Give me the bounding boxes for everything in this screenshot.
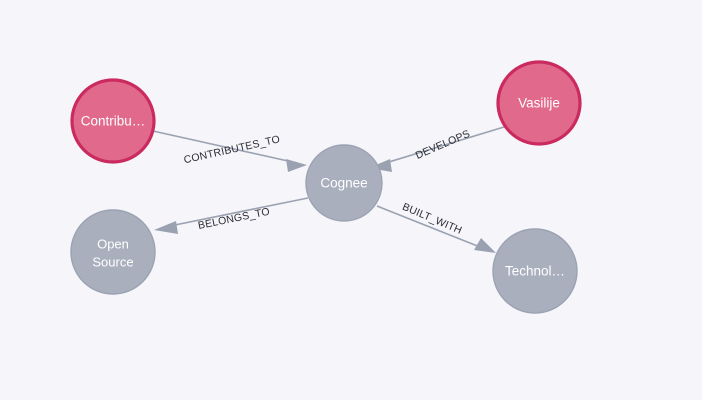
edge-belongs-to[interactable]: BELONGS_TO [154, 198, 308, 234]
node-contributor[interactable]: Contribu… [72, 80, 154, 162]
arrowhead-icon [154, 221, 178, 234]
node-circle[interactable] [72, 80, 154, 162]
node-circle[interactable] [498, 62, 580, 144]
node-circle[interactable] [71, 210, 155, 294]
edge-built-with[interactable]: BUILT_WITH [377, 201, 496, 253]
arrowhead-icon [474, 238, 496, 253]
node-cognee[interactable]: Cognee [306, 145, 382, 221]
edge-line [165, 198, 308, 227]
arrowhead-icon [286, 159, 307, 172]
edge-contributes-to[interactable]: CONTRIBUTES_TO [153, 131, 307, 172]
edge-label-contributes-to: CONTRIBUTES_TO [183, 133, 282, 166]
nodes-layer: Contribu… Vasilije Cognee Open Source [71, 62, 580, 313]
edge-line [153, 131, 297, 163]
node-vasilije[interactable]: Vasilije [498, 62, 580, 144]
node-circle[interactable] [493, 229, 577, 313]
edge-line [377, 206, 485, 249]
edge-line [379, 127, 504, 165]
graph-canvas[interactable]: CONTRIBUTES_TO DEVELOPS BELONGS_TO BUILT… [0, 0, 702, 400]
graph-visualization[interactable]: CONTRIBUTES_TO DEVELOPS BELONGS_TO BUILT… [0, 0, 702, 400]
node-circle[interactable] [306, 145, 382, 221]
node-technology[interactable]: Technol… [493, 229, 577, 313]
node-open-source[interactable]: Open Source [71, 210, 155, 294]
edge-develops[interactable]: DEVELOPS [369, 127, 504, 172]
